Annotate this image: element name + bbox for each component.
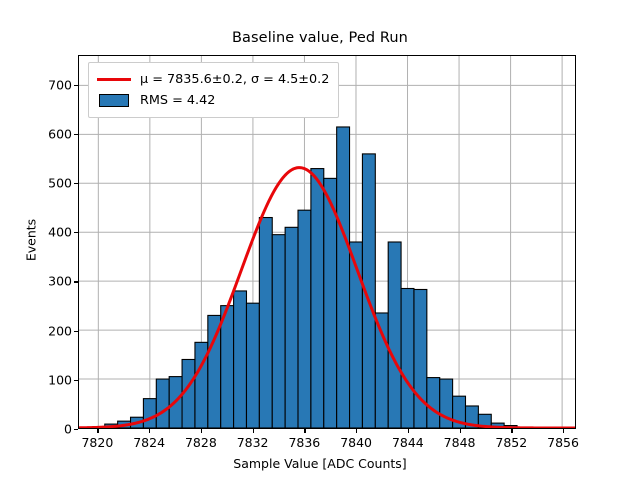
legend-item-histogram: RMS = 4.42 [97, 90, 329, 111]
x-tick-mark [304, 429, 305, 433]
x-tick-mark [97, 429, 98, 433]
legend-line-swatch-icon [97, 73, 131, 87]
legend: μ = 7835.6±0.2, σ = 4.5±0.2 RMS = 4.42 [88, 62, 339, 118]
y-tick-label: 400 [12, 225, 72, 240]
x-tick-mark [408, 429, 409, 433]
legend-item-gaussian-fit: μ = 7835.6±0.2, σ = 4.5±0.2 [97, 69, 329, 90]
x-tick-mark [460, 429, 461, 433]
x-tick-mark [356, 429, 357, 433]
y-tick-label: 600 [12, 126, 72, 141]
x-tick-mark [253, 429, 254, 433]
y-tick-label: 0 [12, 422, 72, 437]
y-tick-label: 200 [12, 323, 72, 338]
x-axis-tick-marks [78, 429, 576, 435]
legend-label-gaussian-fit: μ = 7835.6±0.2, σ = 4.5±0.2 [140, 72, 329, 87]
y-tick-label: 700 [12, 77, 72, 92]
x-tick-mark [201, 429, 202, 433]
x-tick-label: 7856 [533, 435, 593, 450]
y-tick-label: 300 [12, 274, 72, 289]
x-tick-mark [149, 429, 150, 433]
y-axis-tick-labels: 0100200300400500600700 [8, 55, 72, 429]
y-axis-tick-marks [70, 55, 78, 429]
x-axis-label: Sample Value [ADC Counts] [0, 456, 640, 471]
y-tick-label: 100 [12, 372, 72, 387]
legend-label-histogram: RMS = 4.42 [140, 93, 215, 108]
x-tick-mark [511, 429, 512, 433]
legend-patch-swatch-icon [97, 94, 131, 108]
page-title: Baseline value, Ped Run [0, 30, 640, 46]
matplotlib-figure: Baseline value, Ped Run Events Sample Va… [0, 0, 640, 480]
y-tick-label: 500 [12, 175, 72, 190]
x-tick-mark [563, 429, 564, 433]
